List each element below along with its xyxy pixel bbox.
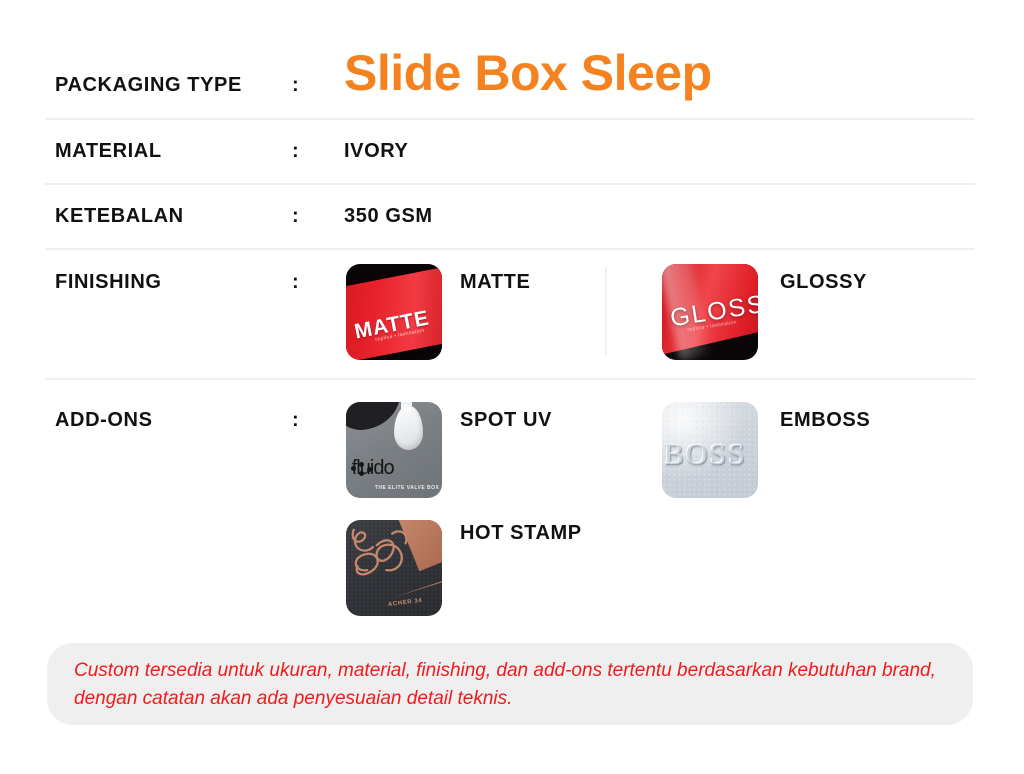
row-divider-2: [45, 183, 975, 185]
row-colon-addons: :: [292, 409, 299, 432]
finishing-options-divider: [605, 267, 607, 355]
addon-option-label-spot-uv: SPOT UV: [460, 409, 552, 432]
addon-option-label-hot-stamp: HOT STAMP: [460, 522, 582, 545]
page-title: Slide Box Sleep: [344, 48, 712, 98]
packaging-spec-sheet: PACKAGING TYPE : Slide Box Sleep MATERIA…: [0, 0, 1024, 774]
finishing-swatch-glossy[interactable]: GLOSS replica • lamination: [662, 264, 758, 360]
row-label-finishing: FINISHING: [55, 271, 162, 294]
addon-swatch-hot-stamp[interactable]: ACHER 34: [346, 520, 442, 616]
row-divider-3: [45, 248, 975, 250]
custom-note-text: Custom tersedia untuk ukuran, material, …: [74, 657, 954, 712]
row-label-ketebalan: KETEBALAN: [55, 205, 184, 228]
row-colon-material: :: [292, 140, 299, 163]
row-divider-4: [45, 378, 975, 380]
addon-option-label-emboss: EMBOSS: [780, 409, 870, 432]
row-divider-1: [45, 118, 975, 120]
addon-swatch-spot-uv[interactable]: fluido THE ELITE VALVE BOX: [346, 402, 442, 498]
hot-stamp-foil-script-icon: [348, 526, 419, 586]
finishing-option-label-glossy: GLOSSY: [780, 271, 867, 294]
spot-uv-droplet: [394, 406, 423, 450]
row-colon-packaging-type: :: [292, 74, 299, 97]
row-colon-finishing: :: [292, 271, 299, 294]
row-colon-ketebalan: :: [292, 205, 299, 228]
row-label-material: MATERIAL: [55, 140, 162, 163]
row-label-addons: ADD-ONS: [55, 409, 153, 432]
spot-uv-brand-text: fluido: [352, 458, 394, 478]
emboss-swatch-caption: BOSS: [664, 440, 758, 470]
finishing-swatch-matte[interactable]: MATTE replica • lamination: [346, 264, 442, 360]
row-value-ketebalan: 350 GSM: [344, 205, 433, 228]
row-value-material: IVORY: [344, 140, 409, 163]
addon-swatch-emboss[interactable]: BOSS: [662, 402, 758, 498]
spot-uv-subtitle: THE ELITE VALVE BOX: [375, 485, 440, 491]
finishing-option-label-matte: MATTE: [460, 271, 530, 294]
custom-note-box: Custom tersedia untuk ukuran, material, …: [47, 643, 973, 725]
row-label-packaging-type: PACKAGING TYPE: [55, 74, 242, 97]
